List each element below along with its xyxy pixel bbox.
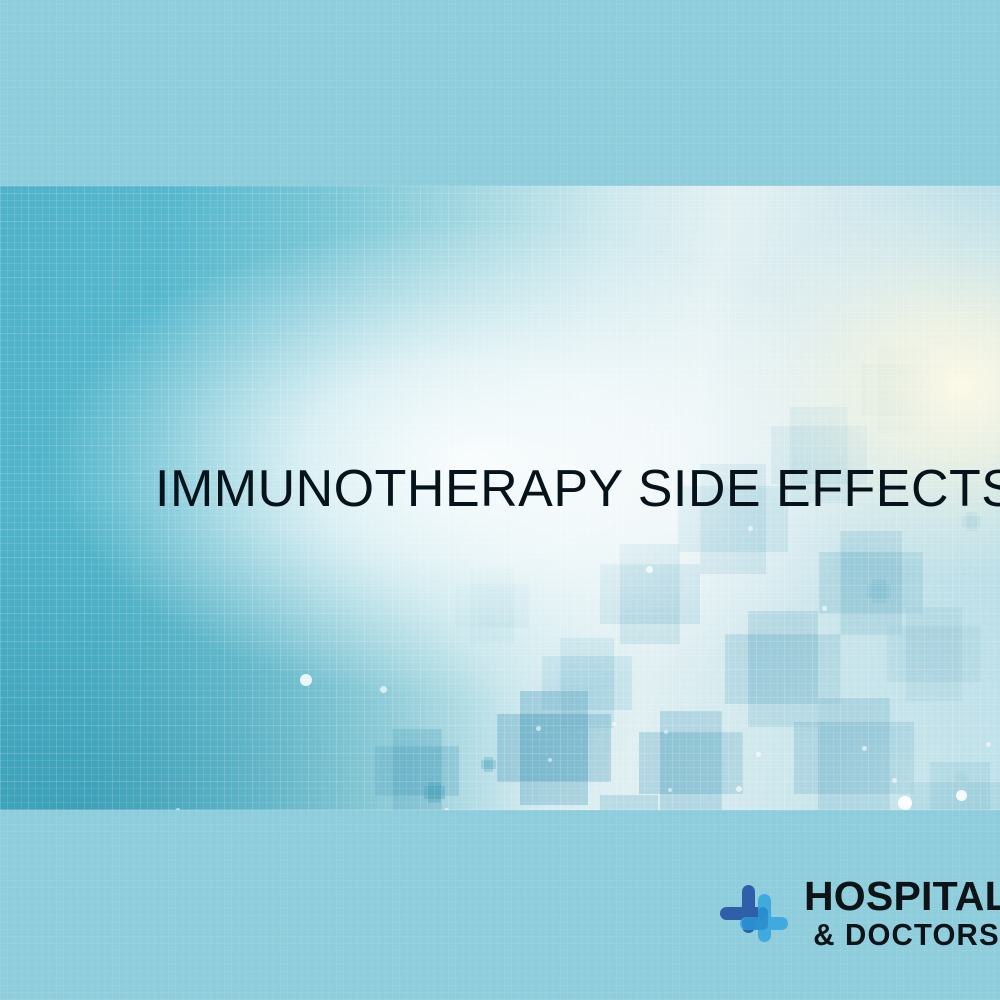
slide-title: IMMUNOTHERAPY SIDE EFFECTS xyxy=(155,463,1000,515)
top-band-grid-texture xyxy=(0,0,1000,186)
slide-canvas: IMMUNOTHERAPY SIDE EFFECTS xyxy=(0,0,1000,1000)
top-color-band xyxy=(0,0,1000,186)
brand-name-primary: HOSPITAL xyxy=(804,876,990,918)
brand-logo[interactable]: HOSPITAL & DOCTORS xyxy=(718,876,990,958)
brand-name-secondary: & DOCTORS xyxy=(813,918,990,952)
double-medical-cross-icon xyxy=(718,880,792,954)
brand-logo-text: HOSPITAL & DOCTORS xyxy=(804,876,990,952)
